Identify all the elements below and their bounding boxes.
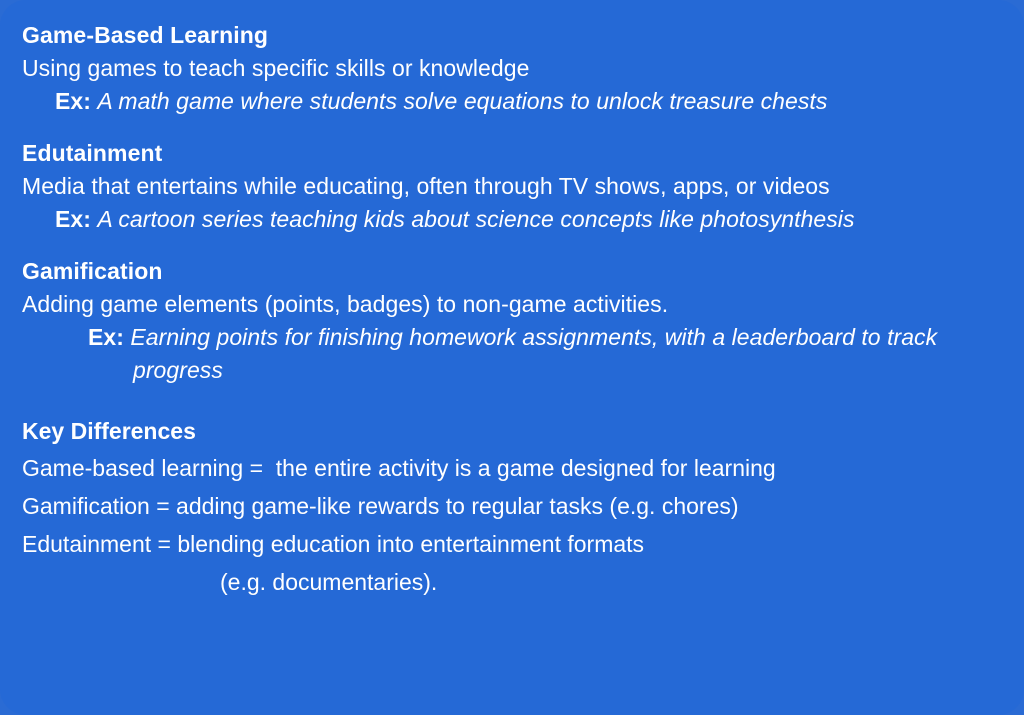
slide-content: Game-Based Learning Using games to teach… [22,18,1012,601]
section-gamification: Gamification Adding game elements (point… [22,254,1012,387]
section-edutainment: Edutainment Media that entertains while … [22,136,1012,236]
section-heading: Edutainment [22,136,1012,170]
example-text: A math game where students solve equatio… [97,88,827,114]
example-text: Earning points for finishing homework as… [130,324,937,383]
example-label: Ex: [88,324,124,350]
section-key-differences: Key Differences Game-based learning = th… [22,413,1012,601]
section-spacer [22,118,1012,136]
example-text: A cartoon series teaching kids about sci… [97,206,854,232]
section-description: Media that entertains while educating, o… [22,170,1012,203]
key-difference-line: Gamification = adding game-like rewards … [22,487,1012,525]
example-label: Ex: [55,88,91,114]
section-example: Ex: A math game where students solve equ… [22,85,1010,118]
key-difference-line: Game-based learning = the entire activit… [22,449,1012,487]
section-example: Ex: A cartoon series teaching kids about… [22,203,1010,236]
section-example: Ex: Earning points for finishing homewor… [22,321,1010,387]
key-differences-heading: Key Differences [22,413,1012,449]
section-description: Using games to teach specific skills or … [22,52,1012,85]
section-game-based-learning: Game-Based Learning Using games to teach… [22,18,1012,118]
key-difference-line: Edutainment = blending education into en… [22,525,1012,563]
key-difference-continuation: (e.g. documentaries). [22,563,1012,601]
example-label: Ex: [55,206,91,232]
section-description: Adding game elements (points, badges) to… [22,288,1012,321]
section-heading: Gamification [22,254,1012,288]
key-differences-spacer [22,387,1012,413]
section-spacer [22,236,1012,254]
slide-card: Game-Based Learning Using games to teach… [0,0,1024,715]
section-heading: Game-Based Learning [22,18,1012,52]
